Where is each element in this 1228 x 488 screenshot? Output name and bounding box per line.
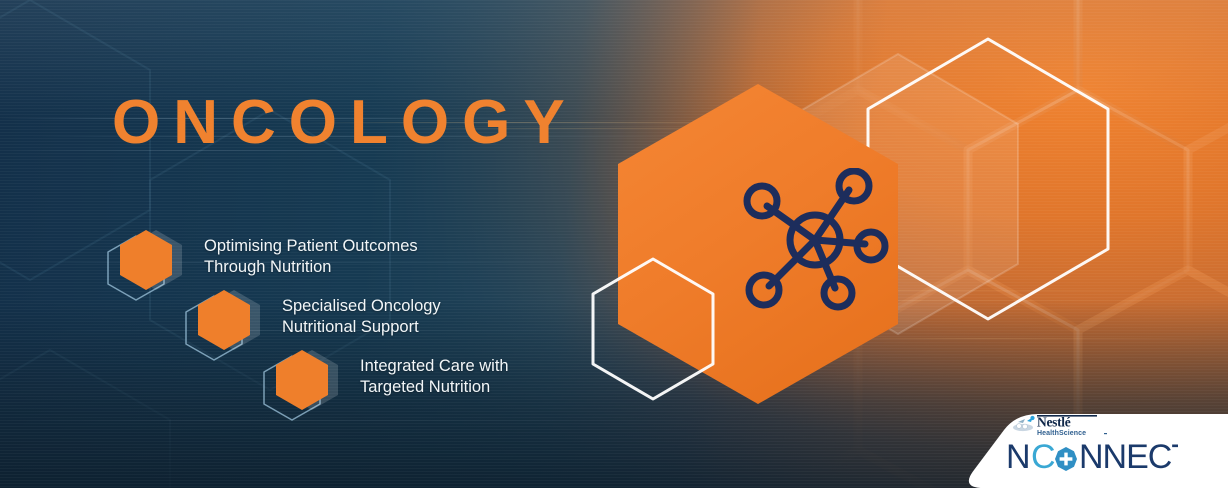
nconnect-tail: NNECT: [1079, 439, 1178, 473]
logo-panel: Nestlé HealthScience N C: [960, 400, 1228, 488]
nconnect-logo: N C NNECT: [1006, 439, 1206, 473]
nconnect-c: C: [1031, 439, 1055, 473]
list-item-label: Integrated Care with Targeted Nutrition: [360, 356, 509, 398]
network-nodes-icon: [737, 168, 897, 316]
plus-badge-icon: [1055, 447, 1077, 471]
list-item: Optimising Patient Outcomes Through Nutr…: [104, 228, 574, 290]
nestle-nest-icon: [1013, 416, 1035, 431]
list-item-label: Optimising Patient Outcomes Through Nutr…: [204, 236, 418, 278]
list-item-label: Specialised Oncology Nutritional Support: [282, 296, 441, 338]
logo-lockup: Nestlé HealthScience N C: [1006, 412, 1206, 473]
nestle-wordmark: Nestlé: [1037, 415, 1097, 430]
nestle-healthscience-sub: HealthScience: [1037, 430, 1107, 437]
feature-list: Optimising Patient Outcomes Through Nutr…: [104, 228, 574, 410]
page-title: ONCOLOGY: [112, 92, 578, 154]
nconnect-n: N: [1006, 439, 1030, 473]
hexagon-bullet-icon: [260, 348, 352, 424]
svg-text:Nestlé: Nestlé: [1037, 415, 1071, 430]
list-item: Specialised Oncology Nutritional Support: [182, 288, 574, 350]
nestle-healthscience-logo: Nestlé HealthScience: [1012, 412, 1206, 438]
svg-text:HealthScience: HealthScience: [1037, 430, 1086, 437]
list-item: Integrated Care with Targeted Nutrition: [260, 348, 574, 410]
oncology-banner: ONCOLOGY Optimising Patient Outcomes Thr…: [0, 0, 1228, 488]
